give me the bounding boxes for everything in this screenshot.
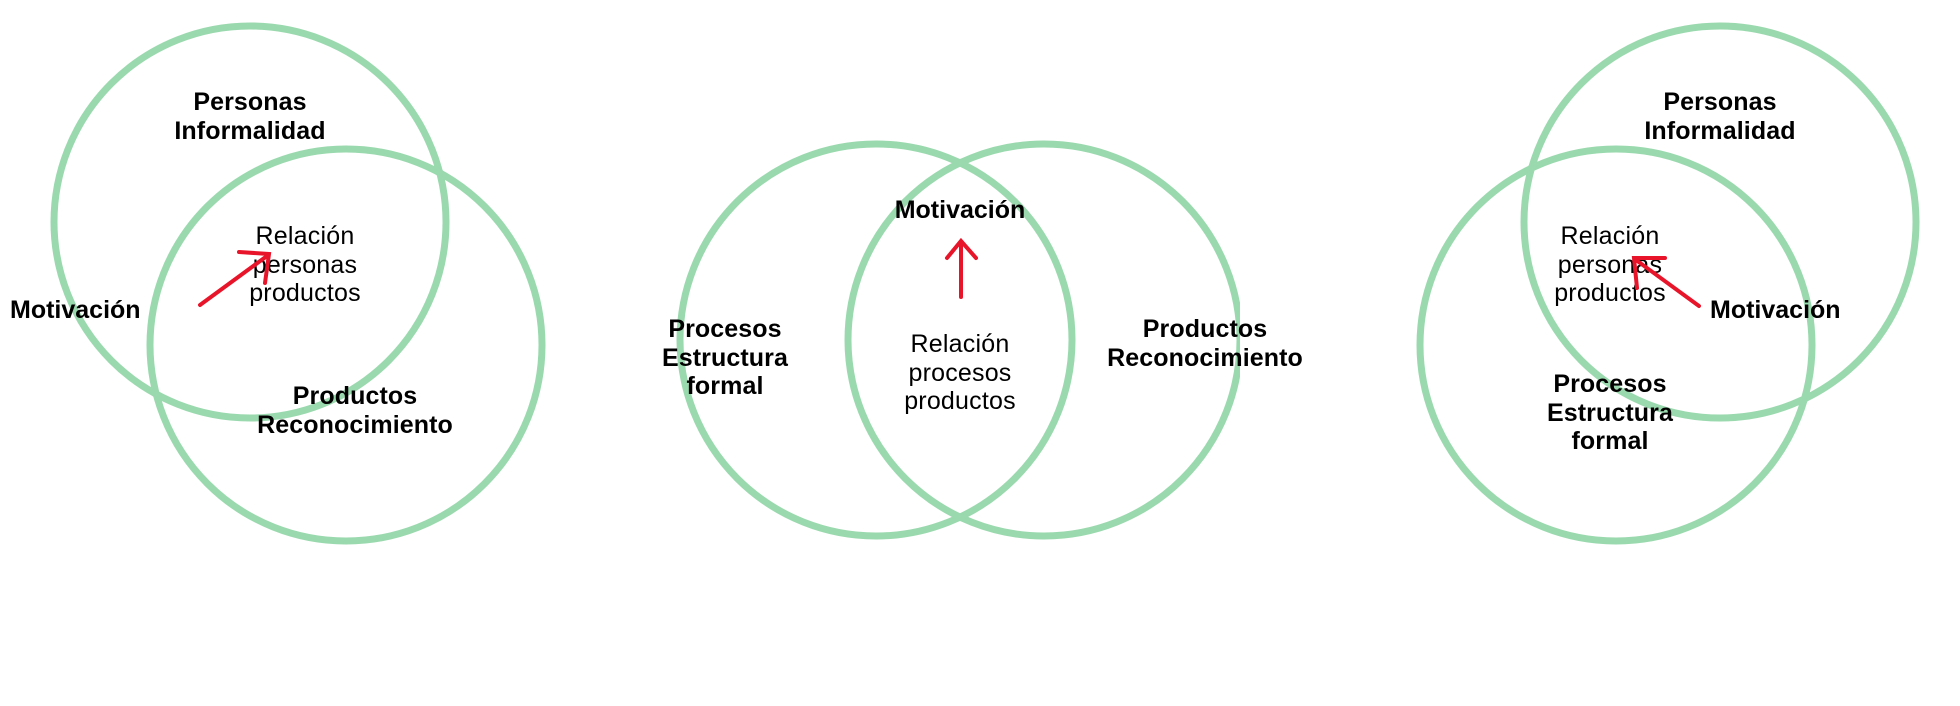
left-callout-label: Motivación: [10, 296, 190, 325]
left-top-circle-label: Personas Informalidad: [90, 88, 410, 145]
middle-left-circle-label: Procesos Estructura formal: [565, 315, 885, 401]
middle-lens-label: Relación procesos productos: [860, 330, 1060, 416]
diagram-middle: Procesos Estructura formal Relación proc…: [620, 0, 1240, 706]
right-lens-label: Relación personas productos: [1510, 222, 1710, 308]
left-lens-label: Relación personas productos: [205, 222, 405, 308]
diagram-canvas: Personas Informalidad Relación personas …: [0, 0, 1960, 706]
right-top-circle-label: Personas Informalidad: [1560, 88, 1880, 145]
left-bottom-circle-label: Productos Reconocimiento: [195, 382, 515, 439]
right-callout-label: Motivación: [1710, 296, 1950, 325]
middle-callout-label: Motivación: [850, 196, 1070, 225]
diagram-left: Personas Informalidad Relación personas …: [0, 0, 620, 706]
diagram-right: Personas Informalidad Relación personas …: [1150, 0, 1960, 706]
right-bottom-circle-label: Procesos Estructura formal: [1450, 370, 1770, 456]
